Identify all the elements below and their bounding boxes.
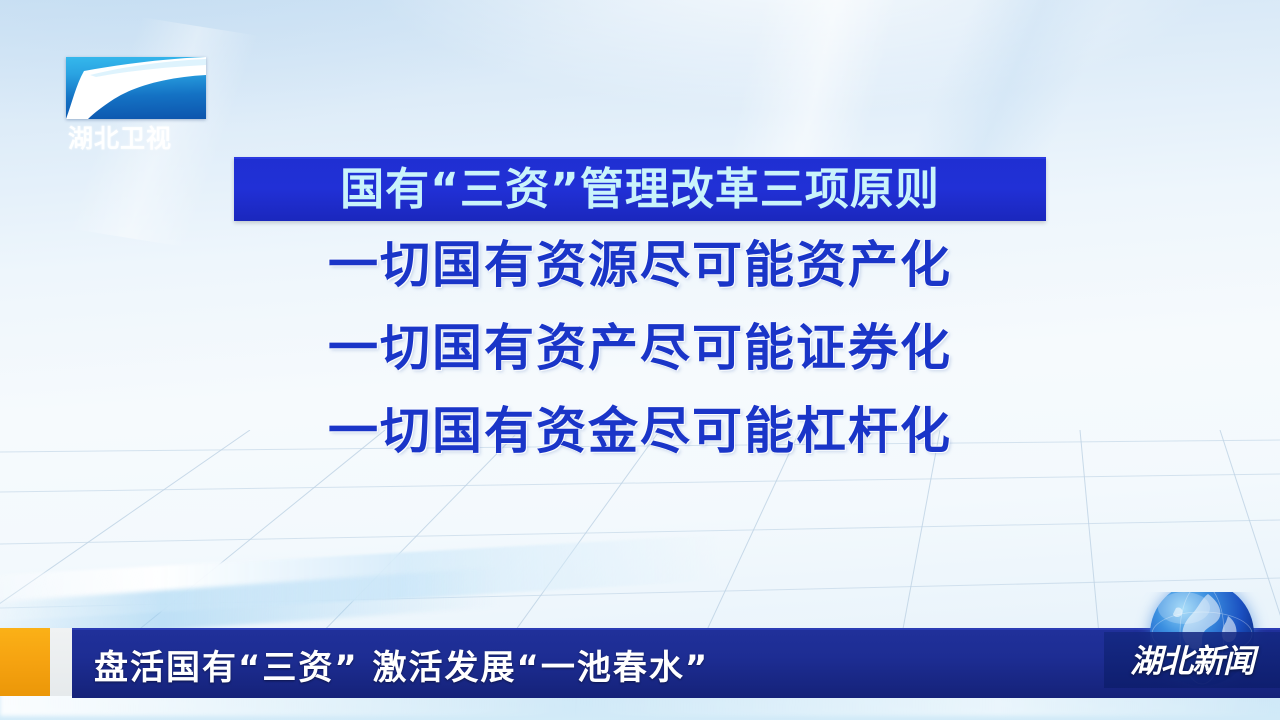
horizon-light-streak [0,535,721,623]
principle-item: 一切国有资源尽可能资产化 [0,240,1280,290]
river-swoosh-logo-icon [66,57,206,119]
program-logo-text: 湖北新闻 [1104,636,1280,682]
lower-third-accent-block [0,628,50,696]
headline-banner: 国有“三资”管理改革三项原则 [234,157,1046,221]
lower-third-gap [50,628,72,696]
broadcast-screen: 湖北卫视 国有“三资”管理改革三项原则 一切国有资源尽可能资产化 一切国有资产尽… [0,0,1280,720]
lower-third-bar: 盘活国有“三资” 激活发展“一池春水” [72,628,1280,698]
channel-bug: 湖北卫视 [66,57,206,119]
program-logo: 湖北新闻 [1104,592,1280,688]
headline-banner-text: 国有“三资”管理改革三项原则 [340,168,940,212]
principle-item: 一切国有资金尽可能杠杆化 [0,406,1280,456]
principles-list: 一切国有资源尽可能资产化 一切国有资产尽可能证券化 一切国有资金尽可能杠杆化 [0,240,1280,489]
lower-third: 盘活国有“三资” 激活发展“一池春水” [0,628,1280,696]
principle-item: 一切国有资产尽可能证券化 [0,323,1280,373]
lower-third-headline: 盘活国有“三资” 激活发展“一池春水” [72,640,709,689]
channel-bug-caption: 湖北卫视 [68,119,218,155]
